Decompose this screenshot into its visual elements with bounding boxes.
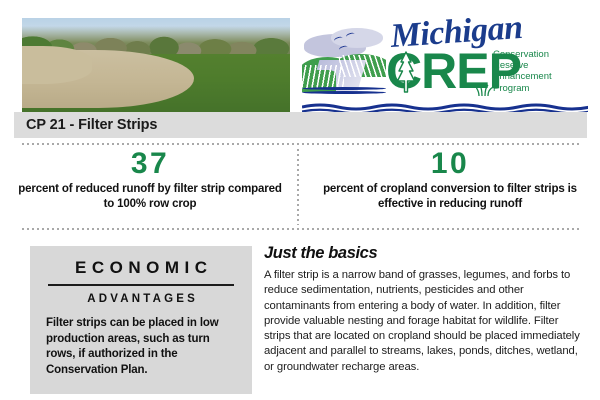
logo-tagline-line: Program (493, 83, 552, 94)
filter-strip-photo (22, 18, 290, 112)
logo-water-waves-icon (302, 103, 588, 112)
stat-number: 37 (16, 148, 284, 180)
grass-icon (476, 84, 494, 96)
contour-rows (339, 55, 386, 77)
practice-title-bar: CP 21 - Filter Strips (14, 112, 587, 138)
logo-tagline: Conservation Reserve Enhancement Program (493, 49, 552, 94)
stat-number: 10 (316, 148, 584, 180)
divider-top (22, 143, 579, 145)
michigan-crep-logo: Michigan CREP Conservation Reserve Enhan… (300, 18, 590, 112)
stat-caption: percent of reduced runoff by filter stri… (16, 182, 284, 211)
statistics-row: 37 percent of reduced runoff by filter s… (0, 148, 600, 226)
just-the-basics-section: Just the basics A filter strip is a narr… (264, 243, 584, 375)
contour-rows (302, 65, 344, 89)
photo-filter-strip-inner (22, 46, 92, 84)
basics-heading: Just the basics (264, 243, 584, 263)
basics-body-text: A filter strip is a narrow band of grass… (264, 268, 584, 375)
divider-bottom (22, 228, 579, 230)
logo-tagline-line: Conservation (493, 49, 552, 60)
stat-caption: percent of cropland conversion to filter… (316, 182, 584, 211)
economic-subheading: ADVANTAGES (46, 292, 236, 307)
logo-tagline-line: Enhancement (493, 71, 552, 82)
pine-tree-icon (395, 51, 417, 93)
water-waves-icon (302, 87, 386, 95)
header: Michigan CREP Conservation Reserve Enhan… (0, 0, 600, 112)
economic-divider (48, 284, 234, 286)
page-title: CP 21 - Filter Strips (14, 117, 157, 133)
stat-block-2: 10 percent of cropland conversion to fil… (300, 148, 600, 226)
logo-tagline-line: Reserve (493, 60, 552, 71)
stat-block-1: 37 percent of reduced runoff by filter s… (0, 148, 300, 226)
economic-body-text: Filter strips can be placed in low produ… (46, 316, 236, 378)
farm-landscape-icon (302, 24, 386, 98)
economic-heading: ECONOMIC (46, 258, 236, 278)
economic-advantages-box: ECONOMIC ADVANTAGES Filter strips can be… (30, 246, 252, 394)
